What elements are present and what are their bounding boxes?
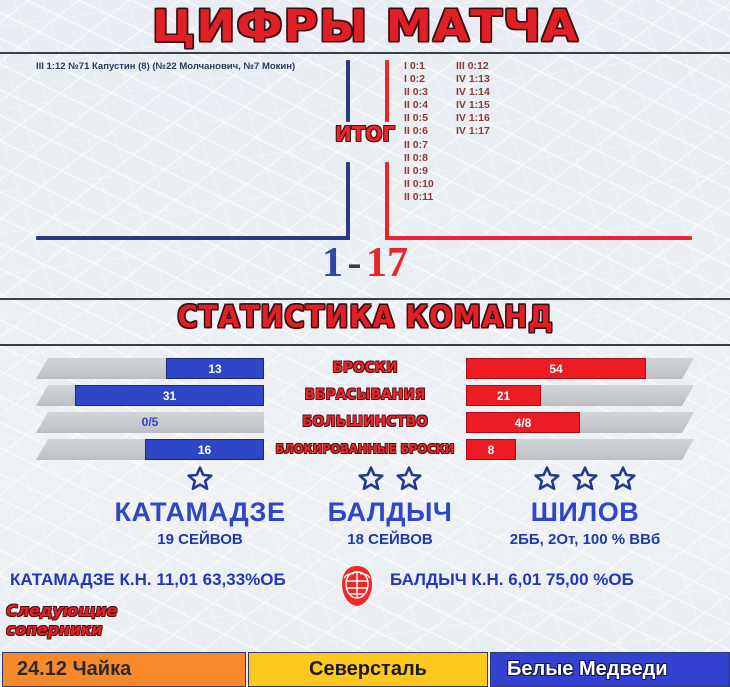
player-stat: 2ББ, 2От, 100 % ВВб <box>470 530 700 550</box>
page-title-text: ЦИФРЫ МАТЧА <box>151 4 578 50</box>
star-of-the-game-1: БАЛДЫЧ18 СЕЙВОВ <box>300 466 480 550</box>
next-opponent-0[interactable]: 24.12 Чайка <box>2 652 246 687</box>
star-rating <box>100 466 300 496</box>
player-name: ШИЛОВ <box>470 497 700 527</box>
goal-entry: II 0:6 <box>404 125 434 138</box>
away-bar-value: 21 <box>466 385 541 406</box>
goal-entry: II 0:10 <box>404 178 434 191</box>
infographic-page: ЦИФРЫ МАТЧА III 1:12 №71 Капустин (8) (№… <box>0 0 730 687</box>
goal-entry: II 0:3 <box>404 86 434 99</box>
next-opponent-2[interactable]: Белые Медведи <box>490 652 730 687</box>
goal-entry: II 0:11 <box>404 191 434 204</box>
goal-entry: IV 1:17 <box>456 125 490 138</box>
goal-entry: IV 1:15 <box>456 99 490 112</box>
away-bracket-line-bottom <box>385 162 389 240</box>
goal-entry: II 0:5 <box>404 112 434 125</box>
goal-entry: IV 1:16 <box>456 112 490 125</box>
goal-entry: III 0:12 <box>456 60 490 73</box>
star-of-the-game-2: ШИЛОВ2ББ, 2От, 100 % ВВб <box>470 466 700 550</box>
divider-stats-bottom <box>0 344 730 346</box>
goal-entry: I 0:2 <box>404 73 434 86</box>
away-bracket-line-top <box>385 60 389 122</box>
star-rating <box>300 466 480 496</box>
away-bar-value: 8 <box>466 439 516 460</box>
goalie-stats-line: КАТАМАДЗЕ К.Н. 11,01 63,33%ОБ БАЛДЫЧ К.Н… <box>0 566 730 594</box>
next-opponents-label-line: Следующие <box>6 601 156 620</box>
score-dash: - <box>348 240 362 286</box>
stats-title: СТАТИСТИКА КОМАНД <box>0 302 730 334</box>
next-opponent-1[interactable]: Северсталь <box>248 652 488 687</box>
stat-row: 168БЛОКИРОВАННЫЕ БРОСКИ <box>0 439 730 463</box>
home-bar-value: 0/5 <box>36 412 264 433</box>
away-bar-value: 54 <box>466 358 646 379</box>
next-opponents-label-line: соперники <box>6 620 156 639</box>
next-opponents-label: Следующиесоперники <box>6 601 156 639</box>
player-stat: 19 СЕЙВОВ <box>100 530 300 550</box>
goal-entry: II 0:8 <box>404 152 434 165</box>
final-score: 1 - 17 <box>0 240 730 286</box>
page-title: ЦИФРЫ МАТЧА <box>0 4 730 50</box>
stat-label: БЛОКИРОВАННЫЕ БРОСКИ <box>270 439 460 460</box>
home-bar-value: 13 <box>166 358 264 379</box>
goal-entry: IV 1:14 <box>456 86 490 99</box>
star-rating <box>470 466 700 496</box>
team-stats-chart: 1354БРОСКИ3121ВБРАСЫВАНИЯ0/54/8БОЛЬШИНСТ… <box>0 358 730 466</box>
divider-top <box>0 52 730 54</box>
away-goals-column-1: I 0:1I 0:2II 0:3II 0:4II 0:5II 0:6II 0:7… <box>404 60 434 204</box>
goalie-stat-home: КАТАМАДЗЕ К.Н. 11,01 63,33%ОБ <box>10 566 286 594</box>
goal-entry: II 0:9 <box>404 165 434 178</box>
goal-entry: I 0:1 <box>404 60 434 73</box>
player-name: БАЛДЫЧ <box>300 497 480 527</box>
stat-label: БОЛЬШИНСТВО <box>270 412 460 433</box>
stat-row: 3121ВБРАСЫВАНИЯ <box>0 385 730 409</box>
stat-label: БРОСКИ <box>270 358 460 379</box>
goalie-mask-icon <box>337 564 377 613</box>
away-goals-column-2: III 0:12IV 1:13IV 1:14IV 1:15IV 1:16IV 1… <box>456 60 490 139</box>
away-bar-value: 4/8 <box>466 412 580 433</box>
goal-entry: II 0:7 <box>404 139 434 152</box>
home-bracket-line-top <box>346 60 350 122</box>
home-bracket-line-bottom <box>346 162 350 240</box>
star-of-the-game-0: КАТАМАДЗЕ19 СЕЙВОВ <box>100 466 300 550</box>
player-name: КАТАМАДЗЕ <box>100 497 300 527</box>
score-home: 1 <box>322 240 343 286</box>
stat-row: 0/54/8БОЛЬШИНСТВО <box>0 412 730 436</box>
stat-row: 1354БРОСКИ <box>0 358 730 382</box>
goalie-stat-away: БАЛДЫЧ К.Н. 6,01 75,00 %ОБ <box>390 566 634 594</box>
home-bar-value: 16 <box>145 439 264 460</box>
home-goals-text: III 1:12 №71 Капустин (8) (№22 Молчанови… <box>36 60 336 73</box>
stat-label: ВБРАСЫВАНИЯ <box>270 385 460 406</box>
home-bar-value: 31 <box>75 385 264 406</box>
score-away: 17 <box>366 240 408 286</box>
goal-entry: IV 1:13 <box>456 73 490 86</box>
goal-entry: II 0:4 <box>404 99 434 112</box>
player-stat: 18 СЕЙВОВ <box>300 530 480 550</box>
result-label: ИТОГ <box>335 122 395 146</box>
stats-title-text: СТАТИСТИКА КОМАНД <box>177 302 553 334</box>
